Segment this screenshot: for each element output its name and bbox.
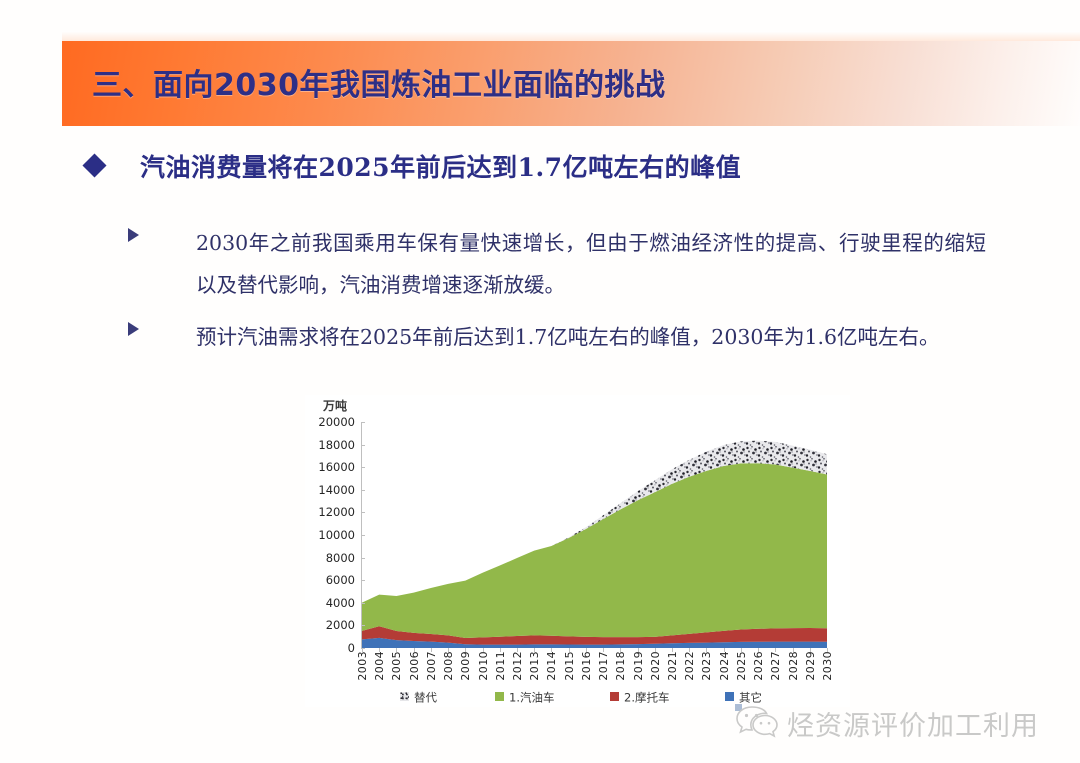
x-axis-tick-label: 2014 (545, 651, 558, 681)
page-title: 三、面向2030年我国炼油工业面临的挑战 (92, 60, 666, 104)
x-axis-tick (672, 648, 673, 652)
area-series-3 (362, 463, 827, 638)
x-axis-tick-label: 2003 (356, 651, 369, 681)
x-axis-tick-label: 2017 (597, 651, 610, 681)
x-axis-tick-label: 2024 (718, 651, 731, 681)
x-axis-tick (741, 648, 742, 652)
slide-canvas: 三、面向2030年我国炼油工业面临的挑战 汽油消费量将在2025年前后达到1.7… (0, 0, 1080, 763)
x-axis-tick (500, 648, 501, 652)
x-axis-tick-label: 2018 (614, 651, 627, 681)
x-axis-tick-label: 2011 (494, 651, 507, 681)
x-axis-tick-label: 2023 (700, 651, 713, 681)
x-axis-tick (362, 648, 363, 652)
gasoline-demand-chart: 万吨 0200040006000800010000120001400016000… (305, 395, 850, 707)
plot-area (362, 422, 827, 648)
x-axis-tick (465, 648, 466, 652)
watermark-text: 烃资源评价加工利用 (787, 704, 1039, 743)
x-axis-tick (793, 648, 794, 652)
x-axis-tick-label: 2029 (804, 651, 817, 681)
x-axis-tick (396, 648, 397, 652)
x-axis-tick (534, 648, 535, 652)
x-axis-tick-label: 2021 (666, 651, 679, 681)
y-axis-tick-label: 2000 (307, 618, 355, 632)
y-axis-tick-label: 6000 (307, 573, 355, 587)
x-axis-tick (448, 648, 449, 652)
y-axis-tick-label: 16000 (307, 460, 355, 474)
legend-item[interactable]: 2.摩托车 (610, 687, 669, 705)
x-axis-tick-label: 2030 (821, 651, 834, 681)
x-axis-tick-label: 2004 (373, 651, 386, 681)
chart-unit-label: 万吨 (323, 397, 347, 414)
x-axis-tick-label: 2025 (735, 651, 748, 681)
x-axis-tick-label: 2022 (683, 651, 696, 681)
x-axis-tick (706, 648, 707, 652)
x-axis-tick (775, 648, 776, 652)
plot-wrapper (362, 422, 827, 648)
x-axis-tick-label: 2028 (787, 651, 800, 681)
y-axis-tick (361, 558, 365, 559)
legend-swatch (400, 692, 409, 701)
y-axis-tick (361, 580, 365, 581)
x-axis-tick-label: 2016 (580, 651, 593, 681)
bullet-level2-text: 预计汽油需求将在2025年前后达到1.7亿吨左右的峰值，2030年为1.6亿吨左… (196, 316, 986, 358)
arrow-bullet-icon (128, 322, 139, 336)
legend-swatch (610, 692, 619, 701)
x-axis-tick (620, 648, 621, 652)
x-axis-tick-label: 2015 (563, 651, 576, 681)
x-axis-tick-label: 2010 (477, 651, 490, 681)
x-axis-tick-label: 2007 (425, 651, 438, 681)
y-axis-tick (361, 512, 365, 513)
legend-label: 1.汽油车 (509, 691, 554, 705)
x-axis-tick (517, 648, 518, 652)
x-axis-tick (414, 648, 415, 652)
watermark: 烃资源评价加工利用 (735, 700, 1065, 750)
legend-item[interactable]: 1.汽油车 (495, 687, 554, 705)
y-axis-tick-label: 0 (307, 641, 355, 655)
y-axis-labels: 0200040006000800010000120001400016000180… (305, 422, 355, 648)
wechat-logo-icon (735, 704, 781, 738)
stacked-area-svg (362, 422, 827, 648)
diamond-bullet-icon (82, 153, 106, 177)
bullet-level1: 汽油消费量将在2025年前后达到1.7亿吨左右的峰值 (86, 148, 1026, 188)
legend-item[interactable]: 替代 (400, 687, 437, 705)
x-axis-tick (586, 648, 587, 652)
x-axis-tick-label: 2027 (769, 651, 782, 681)
y-axis-tick-label: 10000 (307, 528, 355, 542)
x-axis-tick (655, 648, 656, 652)
x-axis-tick-label: 2013 (528, 651, 541, 681)
y-axis-tick-label: 14000 (307, 483, 355, 497)
legend-label: 替代 (414, 691, 437, 705)
x-axis-tick (810, 648, 811, 652)
x-axis-tick-label: 2019 (632, 651, 645, 681)
bullet-level1-text: 汽油消费量将在2025年前后达到1.7亿吨左右的峰值 (140, 148, 741, 184)
x-axis-tick (431, 648, 432, 652)
x-axis-tick (569, 648, 570, 652)
y-axis-tick-label: 20000 (307, 415, 355, 429)
x-axis-tick-label: 2020 (649, 651, 662, 681)
x-axis-tick (758, 648, 759, 652)
x-axis-tick-label: 2026 (752, 651, 765, 681)
x-axis-tick-label: 2006 (408, 651, 421, 681)
x-axis-tick (379, 648, 380, 652)
x-axis-tick (689, 648, 690, 652)
y-axis-tick-label: 12000 (307, 505, 355, 519)
y-axis-tick-label: 4000 (307, 596, 355, 610)
x-axis-tick (638, 648, 639, 652)
bullet-level2-text: 2030年之前我国乘用车保有量快速增长，但由于燃油经济性的提高、行驶里程的缩短以… (196, 222, 986, 306)
x-axis-tick (827, 648, 828, 652)
x-axis-tick (483, 648, 484, 652)
x-axis-tick-label: 2009 (459, 651, 472, 681)
legend-swatch (495, 692, 504, 701)
x-axis-tick-label: 2005 (390, 651, 403, 681)
x-axis-tick (724, 648, 725, 652)
y-axis-tick (361, 490, 365, 491)
legend-label: 2.摩托车 (624, 691, 669, 705)
y-axis-tick-label: 18000 (307, 438, 355, 452)
x-axis-tick (551, 648, 552, 652)
y-axis-tick (361, 603, 365, 604)
y-axis-tick-label: 8000 (307, 551, 355, 565)
x-axis-tick-label: 2008 (442, 651, 455, 681)
y-axis-tick (361, 445, 365, 446)
y-axis-tick (361, 625, 365, 626)
x-axis-tick (603, 648, 604, 652)
y-axis-tick (361, 467, 365, 468)
y-axis-tick (361, 535, 365, 536)
y-axis-tick (361, 422, 365, 423)
legend-swatch (725, 692, 734, 701)
x-axis-tick-label: 2012 (511, 651, 524, 681)
arrow-bullet-icon (128, 228, 139, 242)
